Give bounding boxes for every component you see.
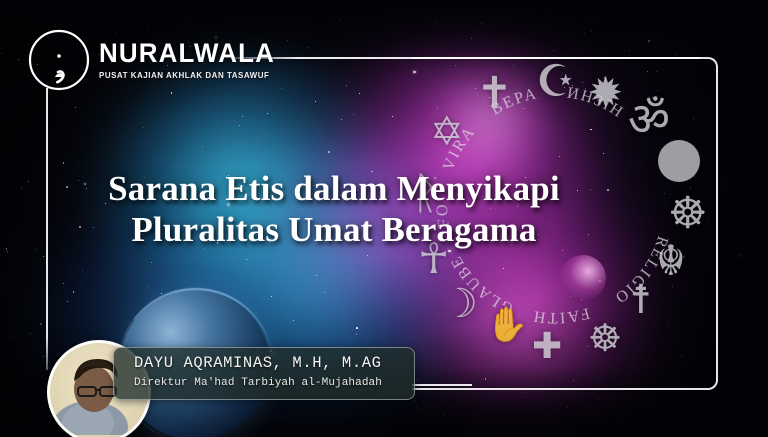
page-title: Sarana Etis dalam Menyikapi Pluralitas U…	[0, 168, 668, 251]
brand-lockup: NURALWALA PUSAT KAJIAN AKHLAK DAN TASAWU…	[99, 40, 282, 80]
brand-name: NURALWALA	[99, 40, 275, 67]
frame-bottom-stub	[412, 384, 472, 386]
presentation-slide: RELIGIOFAITHGLAUBEFOIVIRABEPAИНЗІН ✡✝☪✹ॐ…	[0, 0, 768, 437]
title-line-1: Sarana Etis dalam Menyikapi	[108, 169, 560, 208]
title-line-2: Pluralitas Umat Beragama	[0, 209, 668, 250]
brand-tagline: PUSAT KAJIAN AKHLAK DAN TASAWUF	[99, 71, 277, 80]
speaker-role: Direktur Ma'had Tarbiyah al-Mujahadah	[134, 377, 382, 389]
speaker-name: DAYU AQRAMINAS, M.H, M.AG	[134, 354, 382, 372]
circle-comma-icon	[25, 28, 93, 96]
